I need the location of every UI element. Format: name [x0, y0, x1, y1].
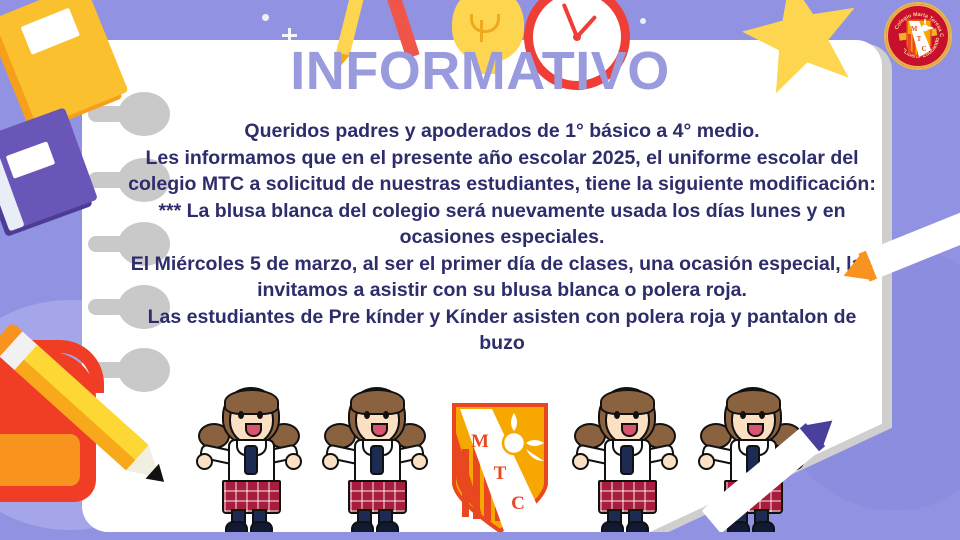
hand: [285, 453, 302, 470]
school-seal-logo: Colegio Marta Teresa Cancino "Liberar Ed…: [884, 2, 952, 70]
mtc-crest-logo: M T C: [452, 403, 548, 535]
hand: [196, 453, 213, 470]
dot-doodle: [640, 18, 646, 24]
poster-line: El Miércoles 5 de marzo, al ser el prime…: [128, 251, 876, 304]
hair-fringe: [350, 389, 405, 415]
seal-letter-m: M: [911, 25, 918, 33]
seal-letter-c: C: [921, 45, 926, 53]
hand: [411, 453, 428, 470]
hand: [661, 453, 678, 470]
poster-body: Queridos padres y apoderados de 1° básic…: [128, 118, 876, 357]
eye: [364, 411, 370, 419]
poster-canvas: INFORMATIVO Queridos padres y apoderados…: [0, 0, 960, 540]
crest-letter-m: M: [471, 431, 489, 452]
crest-letter-c: C: [511, 493, 525, 514]
hair-fringe: [600, 389, 655, 415]
page-title: INFORMATIVO: [0, 44, 960, 98]
crest-letter-t: T: [494, 463, 507, 484]
backpack-pocket: [0, 434, 80, 486]
hand: [572, 453, 589, 470]
schoolgirl-illustration: [576, 385, 674, 535]
clock-center-pin: [573, 33, 581, 41]
bulb-filament: [480, 20, 483, 42]
bulb-filament: [470, 14, 500, 33]
poster-line: *** La blusa blanca del colegio será nue…: [128, 198, 876, 251]
hand: [698, 453, 715, 470]
schoolgirl-illustration: [326, 385, 424, 535]
eye: [614, 411, 620, 419]
dot-doodle: [262, 14, 269, 21]
eye: [257, 411, 263, 419]
book-pages: [0, 132, 25, 231]
eye: [633, 411, 639, 419]
seal-letter-t: T: [917, 35, 922, 43]
poster-line: Las estudiantes de Pre kínder y Kínder a…: [128, 304, 876, 357]
hair-fringe: [224, 389, 279, 415]
necktie: [370, 445, 384, 475]
poster-line: Queridos padres y apoderados de 1° básic…: [128, 118, 876, 145]
hair-fringe: [726, 389, 781, 415]
eye: [383, 411, 389, 419]
eye: [238, 411, 244, 419]
schoolgirl-illustration: [200, 385, 298, 535]
hand: [322, 453, 339, 470]
poster-line: Les informamos que en el presente año es…: [128, 145, 876, 198]
necktie: [244, 445, 258, 475]
eye: [740, 411, 746, 419]
bottom-strip: [0, 532, 960, 540]
eye: [759, 411, 765, 419]
book-label: [6, 141, 56, 179]
necktie: [620, 445, 634, 475]
